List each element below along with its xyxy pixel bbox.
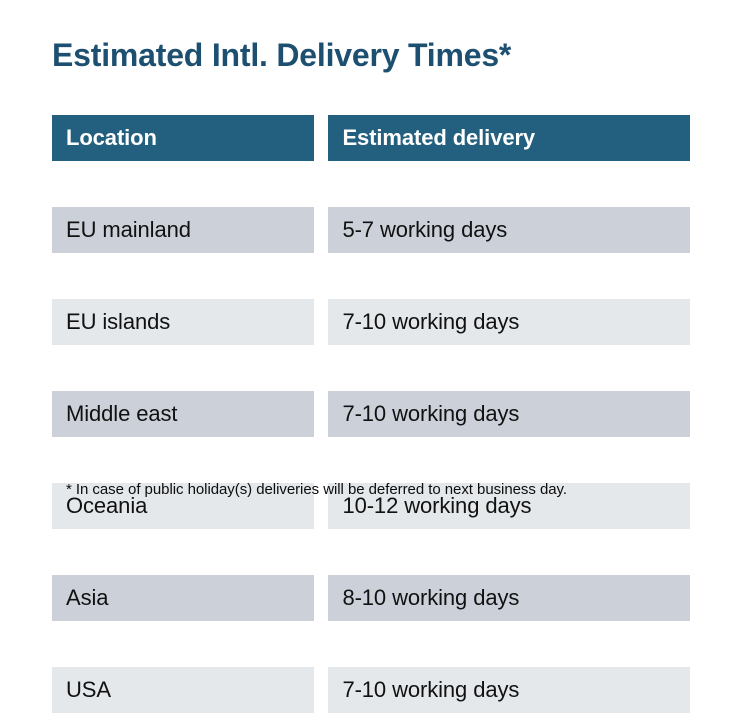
cell-location: Asia <box>52 575 314 621</box>
delivery-times-page: Estimated Intl. Delivery Times* Location… <box>0 0 745 536</box>
cell-location: EU islands <box>52 299 314 345</box>
row-spacer-cell <box>328 621 690 667</box>
column-divider <box>314 115 328 161</box>
cell-location: USA <box>52 667 314 713</box>
cell-delivery: 7-10 working days <box>328 299 690 345</box>
cell-divider <box>314 667 328 713</box>
row-spacer-cell <box>52 253 314 299</box>
table-row: EU mainland 5-7 working days <box>52 207 690 253</box>
table-header: Location Estimated delivery <box>52 115 690 161</box>
row-spacer-gap <box>314 345 328 391</box>
row-spacer-cell <box>328 345 690 391</box>
cell-divider <box>314 207 328 253</box>
table-header-row: Location Estimated delivery <box>52 115 690 161</box>
column-header-location: Location <box>52 115 314 161</box>
row-spacer <box>52 345 690 391</box>
delivery-times-table: Location Estimated delivery EU mainland … <box>52 115 690 713</box>
page-title: Estimated Intl. Delivery Times* <box>52 36 511 74</box>
row-spacer-gap <box>314 437 328 483</box>
table-row: EU islands 7-10 working days <box>52 299 690 345</box>
column-header-estimated-delivery: Estimated delivery <box>328 115 690 161</box>
row-spacer-cell <box>52 437 314 483</box>
cell-delivery: 7-10 working days <box>328 667 690 713</box>
row-spacer <box>52 161 690 207</box>
table-row: Middle east 7-10 working days <box>52 391 690 437</box>
row-spacer-cell <box>52 345 314 391</box>
row-spacer-cell <box>52 161 314 207</box>
row-spacer-gap <box>314 253 328 299</box>
cell-delivery: 8-10 working days <box>328 575 690 621</box>
row-spacer <box>52 437 690 483</box>
row-spacer-cell <box>328 437 690 483</box>
cell-divider <box>314 391 328 437</box>
row-spacer-gap <box>314 621 328 667</box>
cell-delivery: 7-10 working days <box>328 391 690 437</box>
cell-delivery: 5-7 working days <box>328 207 690 253</box>
table-row: USA 7-10 working days <box>52 667 690 713</box>
cell-location: EU mainland <box>52 207 314 253</box>
cell-location: Middle east <box>52 391 314 437</box>
row-spacer-cell <box>52 621 314 667</box>
cell-divider <box>314 575 328 621</box>
footnote-text: * In case of public holiday(s) deliverie… <box>66 481 567 498</box>
row-spacer-gap <box>314 161 328 207</box>
row-spacer-cell <box>328 161 690 207</box>
row-spacer <box>52 253 690 299</box>
row-spacer-cell <box>328 253 690 299</box>
table-body: EU mainland 5-7 working days EU islands … <box>52 161 690 713</box>
table-row: Asia 8-10 working days <box>52 575 690 621</box>
cell-divider <box>314 299 328 345</box>
row-spacer <box>52 621 690 667</box>
